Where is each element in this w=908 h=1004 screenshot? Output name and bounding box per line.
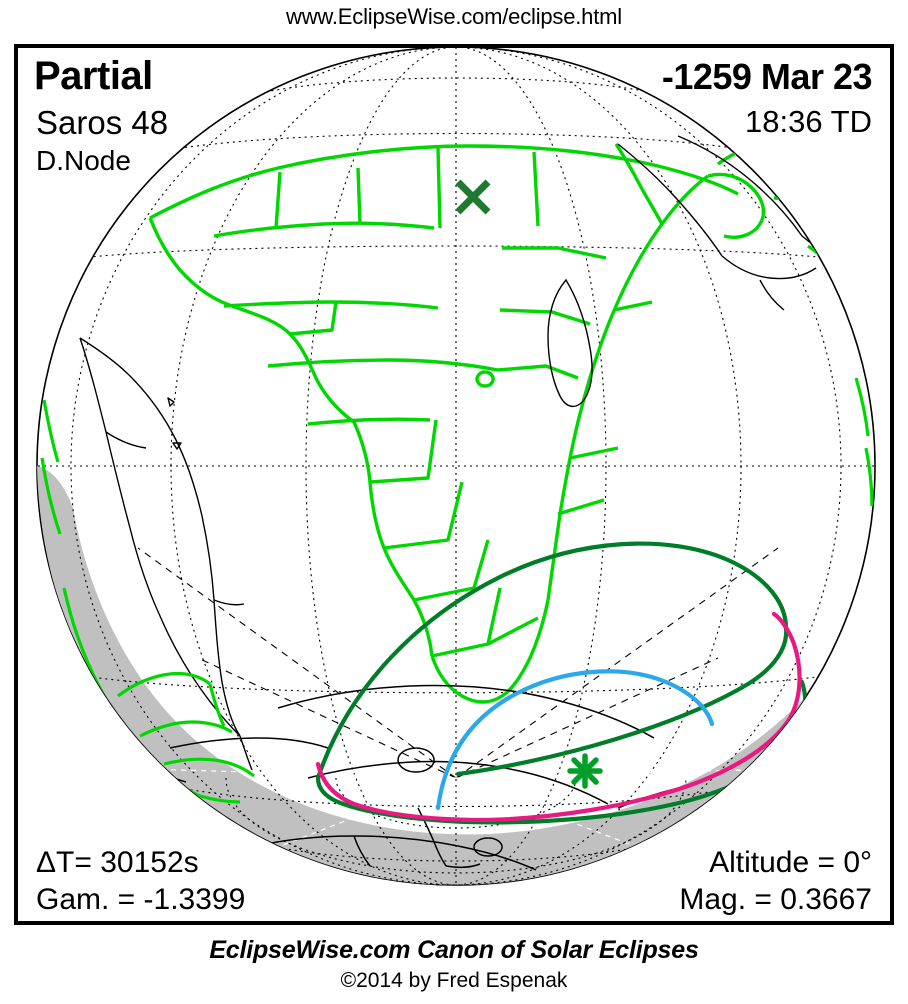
eclipse-type-label: Partial <box>34 54 153 99</box>
greatest-eclipse-marker <box>570 756 600 786</box>
saros-label: Saros 48 <box>36 104 168 142</box>
eclipse-time-label: 18:36 TD <box>745 104 872 140</box>
map-frame: Partial Saros 48 D.Node -1259 Mar 23 18:… <box>14 44 894 925</box>
eclipse-date-label: -1259 Mar 23 <box>662 56 872 98</box>
map-canvas: Partial Saros 48 D.Node -1259 Mar 23 18:… <box>18 48 890 921</box>
node-label: D.Node <box>36 145 131 177</box>
delta-t-label: ΔT= 30152s <box>36 846 199 880</box>
header-url: www.EclipseWise.com/eclipse.html <box>0 4 908 30</box>
magnitude-label: Mag. = 0.3667 <box>679 883 872 917</box>
footer-title: EclipseWise.com Canon of Solar Eclipses <box>0 936 908 965</box>
footer-credit: ©2014 by Fred Espenak <box>0 969 908 993</box>
gamma-label: Gam. = -1.3399 <box>36 883 245 917</box>
eclipse-map-page: www.EclipseWise.com/eclipse.html <box>0 0 908 1004</box>
globe-graphic <box>18 48 890 921</box>
altitude-label: Altitude = 0° <box>709 846 872 880</box>
